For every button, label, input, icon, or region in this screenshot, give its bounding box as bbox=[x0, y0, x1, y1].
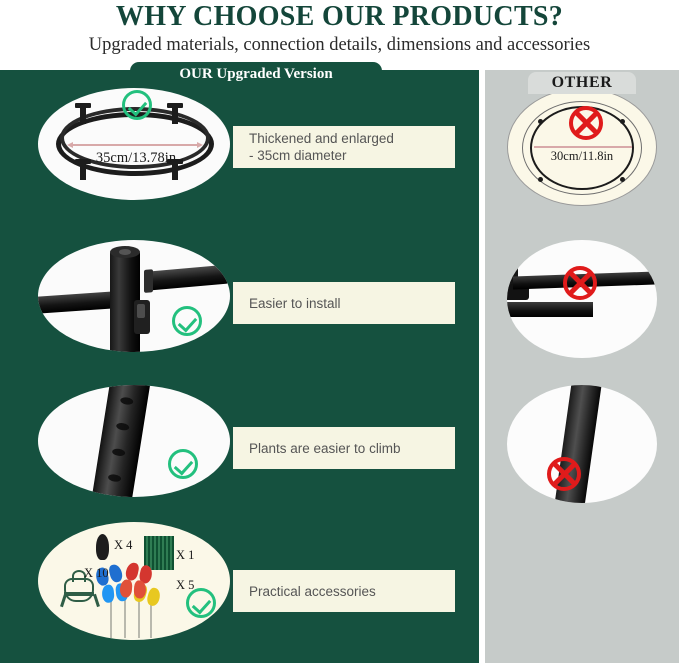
accessory-qty-plant-clip: X 10 bbox=[84, 566, 109, 581]
plant-clip-body bbox=[64, 578, 94, 602]
cross-mark-icon bbox=[569, 106, 603, 140]
other-ring-dot bbox=[538, 119, 543, 124]
caption-line-1: Easier to install bbox=[249, 295, 341, 312]
connector-arm-right bbox=[150, 265, 228, 291]
other-row-diameter: 30cm/11.8in bbox=[485, 88, 679, 216]
tab-other[interactable]: OTHER bbox=[528, 72, 636, 94]
cross-mark-icon bbox=[563, 266, 597, 300]
other-dimension-arrow bbox=[534, 146, 632, 148]
pole-notch bbox=[108, 474, 122, 483]
page-subtitle: Upgraded materials, connection details, … bbox=[0, 33, 679, 57]
other-connector-stub bbox=[507, 240, 518, 262]
our-caption-climbing: Plants are easier to climb bbox=[233, 427, 455, 469]
header: WHY CHOOSE OUR PRODUCTS? Upgraded materi… bbox=[0, 0, 679, 62]
our-caption-accessories: Practical accessories bbox=[233, 570, 455, 612]
our-dimension-label: 35cm/13.78in bbox=[66, 150, 206, 167]
pole-notch bbox=[112, 448, 126, 457]
other-connector-bar bbox=[507, 302, 593, 317]
cross-mark-icon bbox=[547, 457, 581, 491]
other-dimension-label: 30cm/11.8in bbox=[522, 149, 642, 164]
check-mark-icon bbox=[122, 90, 152, 120]
other-ring-dot bbox=[620, 177, 625, 182]
check-mark-icon bbox=[172, 306, 202, 336]
connector-arm-left bbox=[38, 291, 114, 313]
tab-our-upgraded-version[interactable]: OUR Upgraded Version bbox=[130, 62, 382, 86]
caption-line-1: Plants are easier to climb bbox=[249, 440, 401, 457]
row-accessories: .b1::before,.b1::after{background:#1f6fd… bbox=[0, 522, 479, 652]
our-image-accessories: .b1::before,.b1::after{background:#1f6fd… bbox=[38, 522, 230, 640]
our-image-textured-pole bbox=[38, 385, 230, 497]
ring-leg bbox=[172, 106, 178, 124]
accessory-qty-end-cap: X 4 bbox=[114, 538, 132, 553]
plant-clip-leg bbox=[60, 594, 66, 607]
row-installation: Easier to install bbox=[0, 240, 479, 368]
plant-clip-leg bbox=[93, 594, 99, 607]
check-mark-icon bbox=[168, 449, 198, 479]
caption-line-1: Practical accessories bbox=[249, 583, 376, 600]
our-caption-diameter: Thickened and enlarged - 35cm diameter bbox=[233, 126, 455, 168]
caption-line-2: - 35cm diameter bbox=[249, 147, 394, 164]
our-caption-installation: Easier to install bbox=[233, 282, 455, 324]
connector-cap bbox=[110, 246, 140, 258]
end-cap-icon bbox=[96, 534, 109, 560]
other-ring-dot bbox=[538, 177, 543, 182]
connector-clip bbox=[134, 300, 150, 334]
textured-pole bbox=[89, 385, 150, 497]
caption-line-1: Thickened and enlarged bbox=[249, 130, 394, 147]
other-ring-dot bbox=[620, 119, 625, 124]
other-image-smooth-pole bbox=[507, 385, 657, 503]
check-mark-icon bbox=[186, 588, 216, 618]
ring-leg bbox=[80, 106, 86, 124]
page-title: WHY CHOOSE OUR PRODUCTS? bbox=[0, 0, 679, 33]
other-row-climbing bbox=[485, 385, 679, 513]
pole-notch bbox=[120, 397, 134, 406]
other-row-installation bbox=[485, 240, 679, 368]
dimension-arrow bbox=[72, 144, 198, 146]
row-diameter: 35cm/13.78in Thickened and enlarged - 35… bbox=[0, 88, 479, 216]
our-image-connector bbox=[38, 240, 230, 352]
pole-notch bbox=[116, 422, 130, 431]
row-climbing: Plants are easier to climb bbox=[0, 385, 479, 513]
accessory-qty-twist-tie: X 1 bbox=[176, 548, 194, 563]
butterfly-stake-icon bbox=[119, 579, 146, 599]
plant-clip-bar bbox=[64, 592, 94, 596]
